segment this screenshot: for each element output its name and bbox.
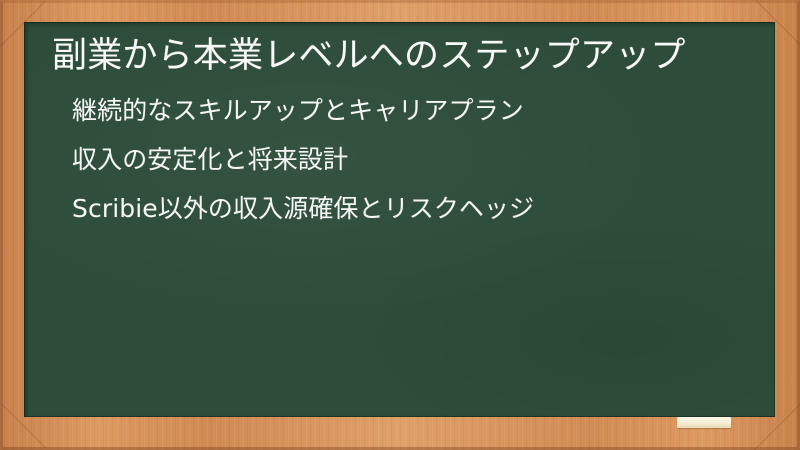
bullet-item-2: 収入の安定化と将来設計 <box>72 147 753 172</box>
bullet-item-1: 継続的なスキルアップとキャリアプラン <box>72 98 753 123</box>
chalkboard-slide: 副業から本業レベルへのステップアップ 継続的なスキルアップとキャリアプラン 収入… <box>0 0 800 450</box>
slide-title: 副業から本業レベルへのステップアップ <box>46 22 753 80</box>
chalkboard-surface: 副業から本業レベルへのステップアップ 継続的なスキルアップとキャリアプラン 収入… <box>24 22 775 417</box>
bullet-list: 継続的なスキルアップとキャリアプラン 収入の安定化と将来設計 Scribie以外… <box>46 98 753 221</box>
chalk-stick <box>677 417 731 428</box>
bullet-item-3: Scribie以外の収入源確保とリスクヘッジ <box>72 196 753 221</box>
